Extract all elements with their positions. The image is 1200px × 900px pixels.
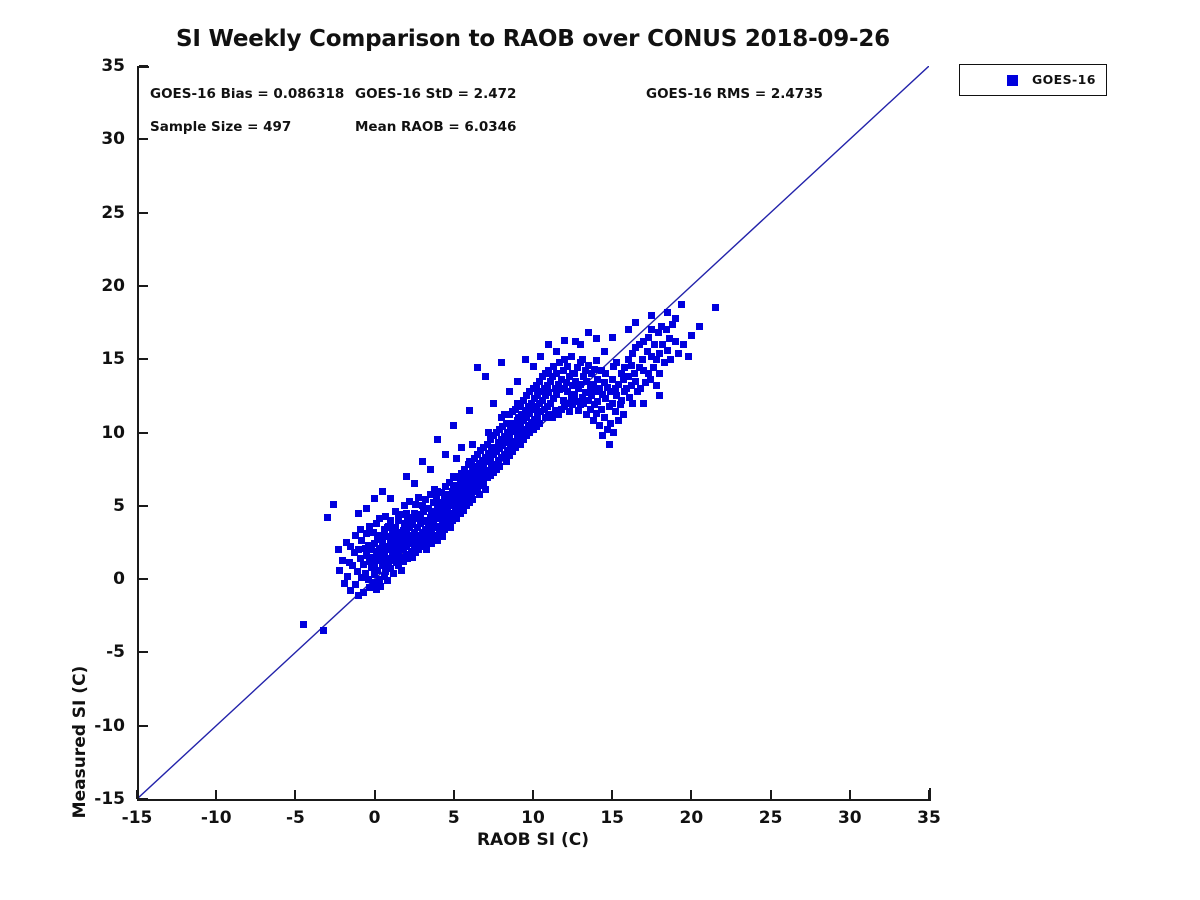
scatter-point xyxy=(324,514,331,521)
x-tick-label: -15 xyxy=(107,808,167,828)
scatter-point xyxy=(680,341,687,348)
scatter-point xyxy=(628,362,635,369)
scatter-point xyxy=(651,341,658,348)
x-tick-label: -5 xyxy=(265,808,325,828)
x-axis-spine xyxy=(137,799,931,801)
x-tick-label: 20 xyxy=(661,808,721,828)
scatter-point xyxy=(450,473,457,480)
y-tick-mark xyxy=(139,432,148,434)
scatter-point xyxy=(403,473,410,480)
scatter-point xyxy=(593,357,600,364)
scatter-point xyxy=(632,319,639,326)
y-tick-mark xyxy=(139,651,148,653)
scatter-point xyxy=(656,350,663,357)
scatter-point xyxy=(442,451,449,458)
x-tick-mark xyxy=(215,790,217,799)
scatter-point xyxy=(656,392,663,399)
scatter-point xyxy=(485,429,492,436)
scatter-point xyxy=(466,407,473,414)
x-tick-label: 0 xyxy=(345,808,405,828)
scatter-point xyxy=(434,436,441,443)
scatter-point xyxy=(561,337,568,344)
scatter-point xyxy=(419,502,426,509)
plot-area xyxy=(137,66,929,799)
scatter-point xyxy=(678,301,685,308)
scatter-point xyxy=(522,356,529,363)
annotation-std: GOES-16 StD = 2.472 xyxy=(355,86,516,102)
x-tick-mark xyxy=(136,790,138,799)
scatter-point xyxy=(566,408,573,415)
scatter-point xyxy=(688,332,695,339)
scatter-point xyxy=(664,309,671,316)
scatter-point xyxy=(568,353,575,360)
scatter-point xyxy=(355,510,362,517)
scatter-point xyxy=(613,359,620,366)
y-tick-mark xyxy=(139,212,148,214)
scatter-point xyxy=(434,488,441,495)
scatter-point xyxy=(625,326,632,333)
annotation-bias: GOES-16 Bias = 0.086318 xyxy=(150,86,344,102)
legend-label-goes16: GOES-16 xyxy=(1032,72,1096,87)
scatter-point xyxy=(593,335,600,342)
y-tick-label: 30 xyxy=(65,129,125,149)
scatter-point xyxy=(466,458,473,465)
scatter-point xyxy=(341,580,348,587)
scatter-point xyxy=(620,411,627,418)
scatter-point xyxy=(390,570,397,577)
scatter-point xyxy=(336,567,343,574)
scatter-point xyxy=(648,312,655,319)
scatter-point xyxy=(398,567,405,574)
x-tick-label: 10 xyxy=(503,808,563,828)
scatter-point xyxy=(530,363,537,370)
scatter-point xyxy=(482,486,489,493)
scatter-point xyxy=(387,495,394,502)
scatter-point xyxy=(458,444,465,451)
y-tick-label: 25 xyxy=(65,203,125,223)
scatter-point xyxy=(653,382,660,389)
x-axis-label: RAOB SI (C) xyxy=(137,830,929,850)
scatter-point xyxy=(537,353,544,360)
scatter-point xyxy=(577,341,584,348)
scatter-point xyxy=(501,411,508,418)
x-tick-mark xyxy=(532,790,534,799)
scatter-point xyxy=(469,441,476,448)
scatter-point xyxy=(612,408,619,415)
y-axis-spine xyxy=(137,66,139,801)
scatter-point xyxy=(667,356,674,363)
scatter-point xyxy=(712,304,719,311)
scatter-point xyxy=(594,398,601,405)
x-tick-label: 35 xyxy=(899,808,959,828)
legend[interactable]: GOES-16 xyxy=(959,64,1107,96)
scatter-point xyxy=(384,524,391,531)
scatter-point xyxy=(609,400,616,407)
x-tick-mark xyxy=(294,790,296,799)
x-tick-mark xyxy=(453,790,455,799)
x-tick-mark xyxy=(849,790,851,799)
scatter-point xyxy=(403,510,410,517)
scatter-point xyxy=(506,388,513,395)
scatter-point xyxy=(427,466,434,473)
scatter-point xyxy=(632,378,639,385)
scatter-point xyxy=(453,455,460,462)
scatter-point xyxy=(482,373,489,380)
annotation-rms: GOES-16 RMS = 2.4735 xyxy=(646,86,823,102)
y-tick-mark xyxy=(139,358,148,360)
y-tick-mark xyxy=(139,578,148,580)
x-tick-label: 25 xyxy=(741,808,801,828)
x-tick-label: -10 xyxy=(186,808,246,828)
scatter-point xyxy=(363,505,370,512)
scatter-point xyxy=(609,334,616,341)
scatter-point xyxy=(606,441,613,448)
scatter-point xyxy=(384,577,391,584)
y-tick-mark xyxy=(139,505,148,507)
scatter-point xyxy=(370,529,377,536)
scatter-point xyxy=(639,356,646,363)
scatter-point xyxy=(696,323,703,330)
chart-title: SI Weekly Comparison to RAOB over CONUS … xyxy=(137,26,929,52)
y-axis-label: Measured SI (C) xyxy=(70,642,90,842)
scatter-point xyxy=(352,581,359,588)
scatter-point xyxy=(610,429,617,436)
scatter-point xyxy=(672,315,679,322)
scatter-point xyxy=(685,353,692,360)
x-tick-label: 5 xyxy=(424,808,484,828)
scatter-point xyxy=(447,524,454,531)
x-tick-mark xyxy=(928,790,930,799)
scatter-point xyxy=(545,341,552,348)
scatter-point xyxy=(439,533,446,540)
scatter-point xyxy=(675,350,682,357)
y-tick-mark xyxy=(139,725,148,727)
legend-swatch-goes16 xyxy=(1007,75,1018,86)
scatter-point xyxy=(474,364,481,371)
scatter-point xyxy=(371,495,378,502)
scatter-point xyxy=(656,370,663,377)
x-tick-mark xyxy=(690,790,692,799)
scatter-point xyxy=(553,348,560,355)
scatter-point xyxy=(585,329,592,336)
scatter-point xyxy=(629,400,636,407)
y-tick-mark xyxy=(139,65,148,67)
y-tick-label: 0 xyxy=(65,569,125,589)
y-axis-label-wrapper: Measured SI (C) xyxy=(40,332,80,532)
y-tick-mark xyxy=(139,285,148,287)
scatter-point xyxy=(450,422,457,429)
scatter-point xyxy=(569,370,576,377)
y-tick-label: 20 xyxy=(65,276,125,296)
scatter-point xyxy=(387,517,394,524)
chart-figure: SI Weekly Comparison to RAOB over CONUS … xyxy=(0,0,1200,900)
x-tick-mark xyxy=(611,790,613,799)
scatter-point xyxy=(596,422,603,429)
y-tick-label: 35 xyxy=(65,56,125,76)
scatter-point xyxy=(330,501,337,508)
scatter-point xyxy=(419,458,426,465)
scatter-point xyxy=(618,397,625,404)
scatter-point xyxy=(564,363,571,370)
x-tick-mark xyxy=(374,790,376,799)
scatter-point xyxy=(498,359,505,366)
scatter-point xyxy=(335,546,342,553)
scatter-point xyxy=(607,420,614,427)
scatter-point xyxy=(411,480,418,487)
scatter-point xyxy=(344,573,351,580)
annotation-sample-size: Sample Size = 497 xyxy=(150,119,291,135)
scatter-point xyxy=(672,338,679,345)
scatter-point xyxy=(300,621,307,628)
x-tick-label: 30 xyxy=(820,808,880,828)
y-tick-mark xyxy=(139,138,148,140)
scatter-point xyxy=(395,517,402,524)
annotation-mean-raob: Mean RAOB = 6.0346 xyxy=(355,119,516,135)
scatter-point xyxy=(598,406,605,413)
scatter-point xyxy=(640,400,647,407)
scatter-point xyxy=(514,378,521,385)
scatter-point xyxy=(320,627,327,634)
scatter-point xyxy=(645,334,652,341)
scatter-point xyxy=(490,400,497,407)
scatter-point xyxy=(601,348,608,355)
x-tick-label: 15 xyxy=(582,808,642,828)
scatter-point xyxy=(379,488,386,495)
x-tick-mark xyxy=(770,790,772,799)
scatter-point xyxy=(664,347,671,354)
y-tick-mark xyxy=(139,798,148,800)
